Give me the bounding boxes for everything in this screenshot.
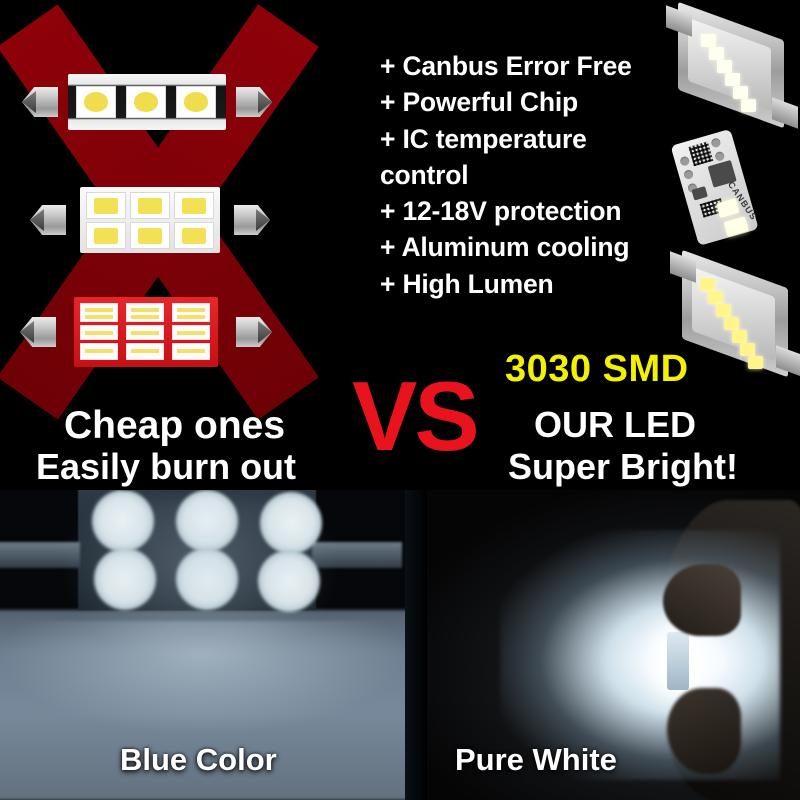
led-chip: [130, 222, 170, 249]
light-haze: [60, 500, 340, 670]
photo-edge: [405, 490, 427, 800]
led-chip: [716, 304, 731, 317]
bulb-endcap-right: [234, 203, 270, 237]
led-chip: [733, 86, 748, 99]
vs-badge: VS: [352, 370, 477, 463]
led-chip: [700, 278, 715, 291]
cheap-bulb-6chip: [30, 182, 270, 258]
feature-item-cooling: + Aluminum cooling: [380, 229, 710, 265]
led-chip: [80, 303, 118, 322]
led-chip: [748, 356, 763, 369]
led-chip: [176, 86, 216, 118]
t10-body: CANBUS: [657, 111, 797, 262]
our-headline-line1: OUR LED: [534, 404, 696, 446]
our-bulb-t10-canbus: CANBUS: [672, 124, 782, 250]
our-headline-line2: Super Bright!: [508, 446, 738, 488]
led-chip: [708, 291, 723, 304]
led-chip: [172, 325, 210, 340]
led-chip: [709, 47, 724, 60]
feature-item-voltage: + 12-18V protection: [380, 193, 710, 229]
our-bulb-festoon-bottom: [672, 252, 798, 376]
caption-pure-white: Pure White: [455, 742, 617, 778]
feature-list: + Canbus Error Free + Powerful Chip + IC…: [380, 48, 710, 302]
led-chip: [172, 343, 210, 360]
vent-hole: [710, 137, 721, 148]
led-chip: [724, 216, 749, 236]
bulb-pcb: [80, 187, 220, 253]
vent-hole: [714, 151, 725, 162]
led-chip: [174, 192, 214, 219]
led-chip: [732, 330, 747, 343]
feature-item-canbus: + Canbus Error Free: [380, 48, 710, 84]
led-chip: [725, 73, 740, 86]
led-chip: [80, 343, 118, 360]
bulb-endcap-left: [22, 85, 58, 119]
finger-bottom: [667, 688, 741, 774]
led-chip: [80, 325, 118, 340]
led-chip: [126, 325, 164, 340]
led-chip: [130, 192, 170, 219]
smd-type-label: 3030 SMD: [505, 348, 689, 391]
cheap-headline-line1: Cheap ones: [64, 404, 285, 448]
led-chip: [86, 192, 126, 219]
festoon-body: [668, 4, 794, 126]
glowing-bulb: [667, 632, 689, 690]
led-chip: [741, 99, 756, 112]
led-chip: [740, 343, 755, 356]
led-chip: [172, 303, 210, 322]
product-comparison-image: + Canbus Error Free + Powerful Chip + IC…: [0, 0, 800, 800]
led-chip: [701, 34, 716, 47]
vent-hole: [679, 156, 690, 167]
bulb-pcb: [74, 297, 218, 367]
feature-item-lumen: + High Lumen: [380, 266, 710, 302]
led-chip: [126, 343, 164, 360]
vent-hole: [683, 169, 694, 180]
bulb-endcap-left: [30, 203, 66, 237]
our-bulb-festoon-top: [668, 4, 794, 126]
cheap-bulb-3chip: [22, 68, 272, 136]
led-chip: [126, 303, 164, 322]
led-chip: [724, 317, 739, 330]
finger-top: [663, 564, 741, 636]
led-chip: [76, 86, 116, 118]
led-chip: [86, 222, 126, 249]
qr-pattern-icon: [689, 142, 714, 167]
cheap-headline-line2: Easily burn out: [36, 446, 296, 488]
cheap-bulb-dense-array: [20, 292, 272, 372]
led-chip: [717, 60, 732, 73]
festoon-body: [672, 252, 798, 376]
led-chip: [174, 222, 214, 249]
bulb-endcap-right: [236, 85, 272, 119]
feature-item-chip: + Powerful Chip: [380, 84, 710, 120]
bulb-endcap-left: [20, 315, 56, 349]
led-chip: [126, 86, 166, 118]
bulb-endcap-right: [236, 315, 272, 349]
ic-chip: [691, 186, 707, 200]
t10-pcb: CANBUS: [671, 129, 759, 246]
bulb-pcb: [68, 74, 226, 130]
caption-blue-color: Blue Color: [120, 742, 277, 778]
